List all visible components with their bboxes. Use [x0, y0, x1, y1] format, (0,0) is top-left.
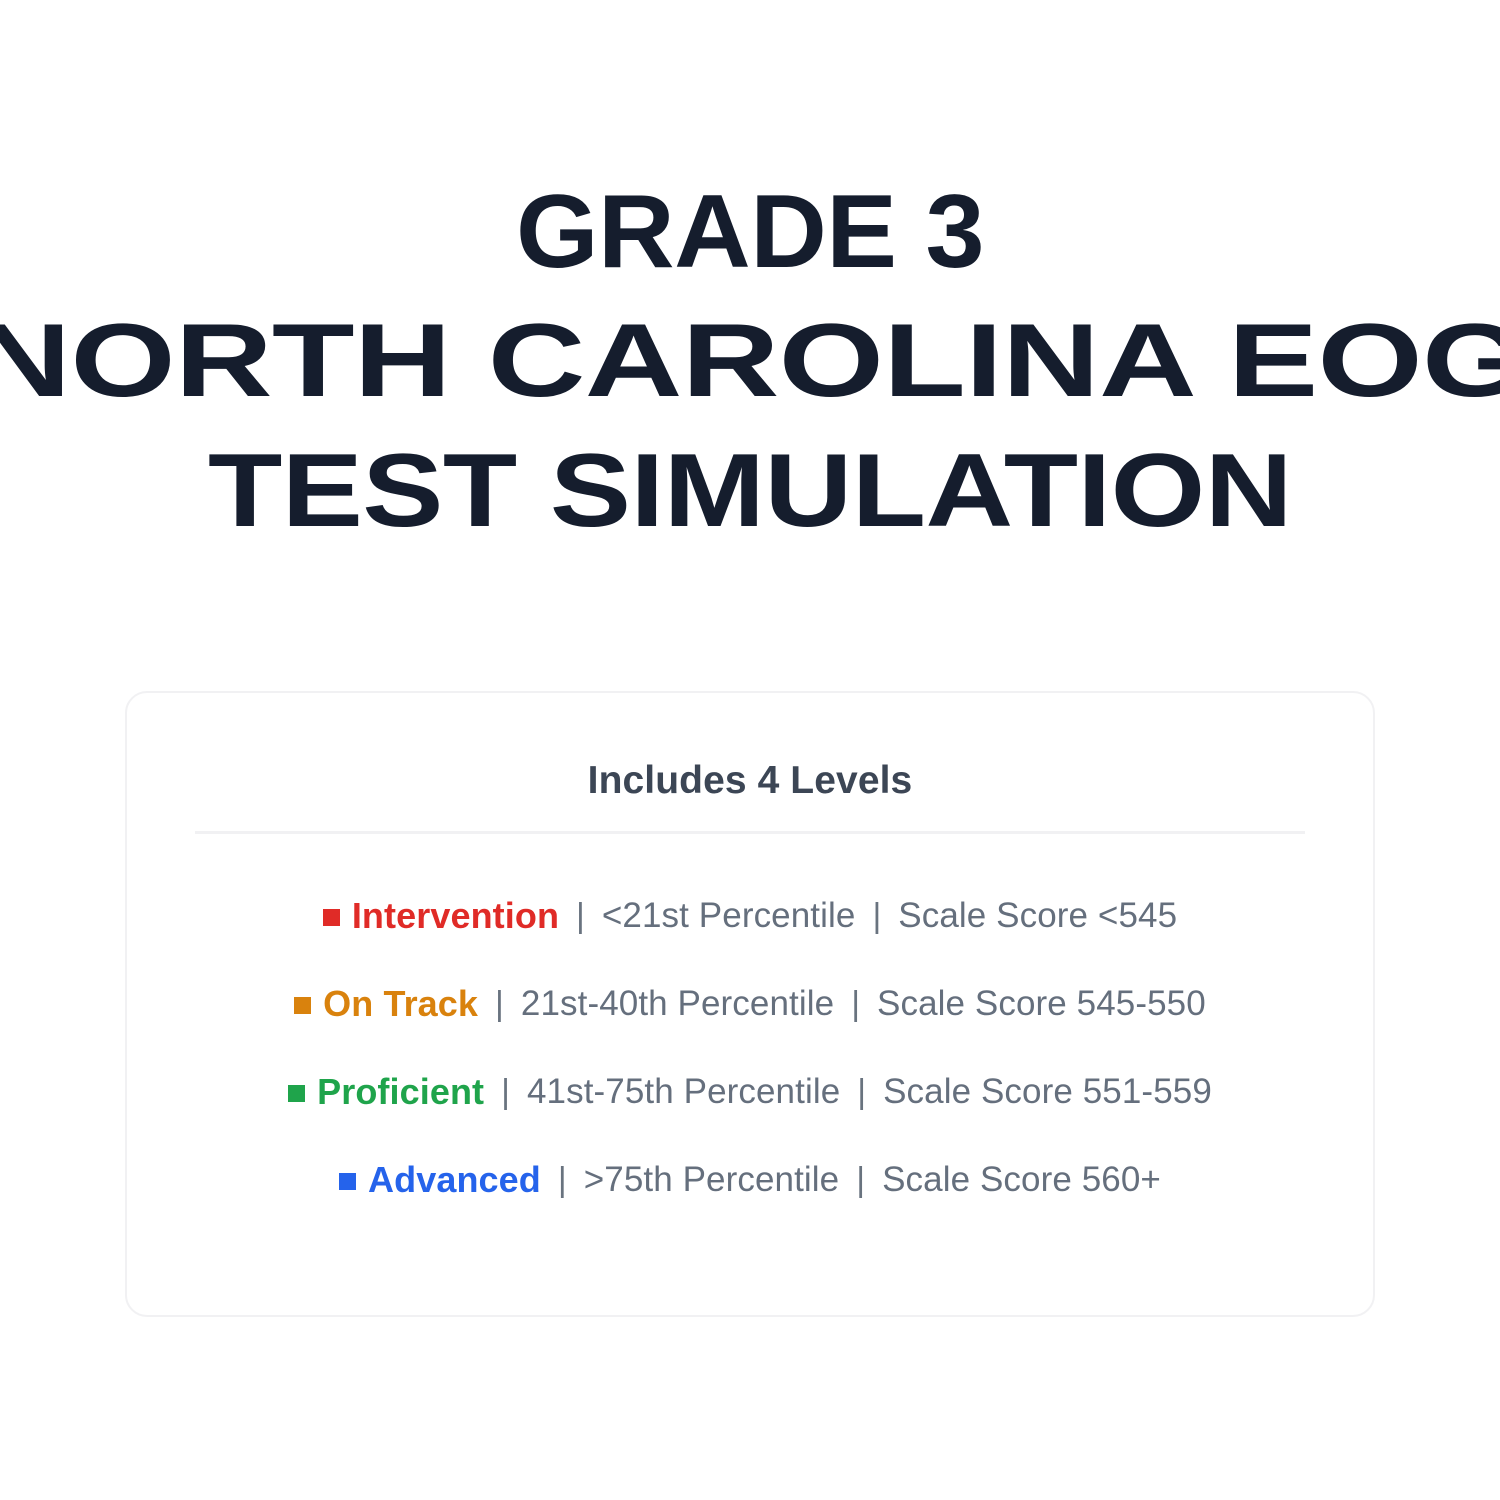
- list-item: On Track | 21st-40th Percentile | Scale …: [127, 960, 1373, 1048]
- level-name: On Track: [323, 983, 478, 1025]
- level-marker-icon: [323, 909, 340, 926]
- levels-list: Intervention | <21st Percentile | Scale …: [127, 834, 1373, 1224]
- level-marker-icon: [339, 1173, 356, 1190]
- separator: |: [541, 1161, 584, 1200]
- title-line-grade: GRADE 3: [0, 168, 1500, 296]
- levels-card: Includes 4 Levels Intervention | <21st P…: [125, 691, 1375, 1317]
- level-marker-icon: [288, 1085, 305, 1102]
- separator: |: [834, 985, 877, 1024]
- level-percentile: 21st-40th Percentile: [521, 984, 834, 1024]
- separator: |: [478, 985, 521, 1024]
- level-scale-score: Scale Score 551-559: [883, 1072, 1212, 1112]
- level-name: Proficient: [317, 1071, 484, 1113]
- level-name: Advanced: [368, 1159, 541, 1201]
- level-marker-icon: [294, 997, 311, 1014]
- promo-page: GRADE 3 NORTH CAROLINA EOG TEST SIMULATI…: [0, 0, 1500, 1500]
- level-scale-score: Scale Score <545: [898, 896, 1177, 936]
- title-line-exam: NORTH CAROLINA EOG: [0, 296, 1500, 426]
- level-name: Intervention: [352, 895, 559, 937]
- page-title: GRADE 3 NORTH CAROLINA EOG TEST SIMULATI…: [0, 168, 1500, 556]
- list-item: Proficient | 41st-75th Percentile | Scal…: [127, 1048, 1373, 1136]
- separator: |: [559, 897, 602, 936]
- level-percentile: <21st Percentile: [602, 896, 856, 936]
- list-item: Intervention | <21st Percentile | Scale …: [127, 872, 1373, 960]
- level-percentile: 41st-75th Percentile: [527, 1072, 840, 1112]
- separator: |: [484, 1073, 527, 1112]
- level-percentile: >75th Percentile: [584, 1160, 840, 1200]
- level-scale-score: Scale Score 545-550: [877, 984, 1206, 1024]
- level-scale-score: Scale Score 560+: [882, 1160, 1161, 1200]
- card-heading: Includes 4 Levels: [127, 693, 1373, 803]
- title-line-subtitle: TEST SIMULATION: [0, 426, 1500, 556]
- separator: |: [840, 1073, 883, 1112]
- separator: |: [855, 897, 898, 936]
- list-item: Advanced | >75th Percentile | Scale Scor…: [127, 1136, 1373, 1224]
- separator: |: [839, 1161, 882, 1200]
